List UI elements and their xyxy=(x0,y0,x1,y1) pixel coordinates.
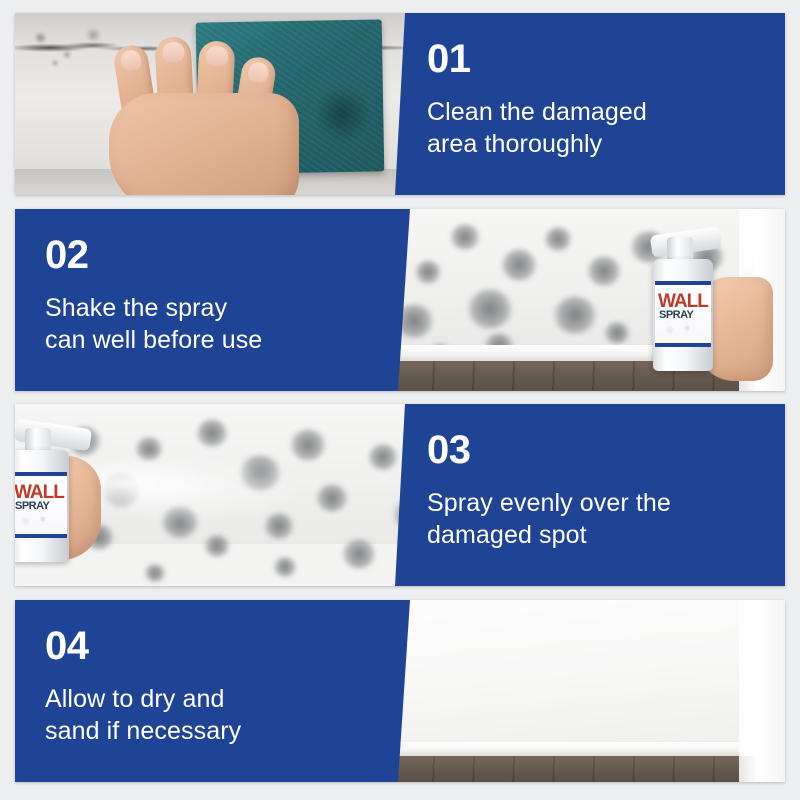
step-card-04: 04 Allow to dry and sand if necessary xyxy=(15,600,785,782)
step-number: 03 xyxy=(427,430,767,470)
step-card-03: WALL SPRAY 03 Spray evenly over the dama… xyxy=(15,404,785,586)
label-graphic xyxy=(15,508,63,530)
step-02-photo: WALL SPRAY xyxy=(355,209,785,391)
step-04-photo xyxy=(355,600,785,782)
step-03-photo: WALL SPRAY xyxy=(15,404,445,586)
label-graphic xyxy=(659,317,707,339)
step-01-text-pane: 01 Clean the damaged area thoroughly xyxy=(395,13,785,195)
step-01-photo xyxy=(15,13,445,195)
step-03-text-pane: 03 Spray evenly over the damaged spot xyxy=(395,404,785,586)
spray-bottle-icon: WALL SPRAY xyxy=(15,422,91,572)
fingernail xyxy=(247,61,270,84)
step-card-02: WALL SPRAY 02 Shake the spray can well b… xyxy=(15,209,785,391)
fingernail xyxy=(162,41,185,62)
step-description: Clean the damaged area thoroughly xyxy=(427,97,767,160)
baseboard xyxy=(355,742,785,756)
hand-illustration xyxy=(101,35,311,195)
step-description: Allow to dry and sand if necessary xyxy=(45,684,370,747)
spray-bottle-icon: WALL SPRAY xyxy=(653,231,733,381)
step-number: 02 xyxy=(45,235,370,275)
bottle-body: WALL SPRAY xyxy=(653,259,713,371)
clean-wall-background xyxy=(355,600,785,782)
bottle-body: WALL SPRAY xyxy=(15,450,69,562)
step-number: 04 xyxy=(45,626,370,666)
step-card-01: 01 Clean the damaged area thoroughly xyxy=(15,13,785,195)
step-02-text-pane: 02 Shake the spray can well before use xyxy=(15,209,410,391)
fingernail xyxy=(120,49,143,72)
palm xyxy=(109,93,299,195)
spray-mist-icon xyxy=(87,432,297,536)
step-04-text-pane: 04 Allow to dry and sand if necessary xyxy=(15,600,410,782)
step-description: Spray evenly over the damaged spot xyxy=(427,488,767,551)
wall-surface xyxy=(355,600,785,746)
step-number: 01 xyxy=(427,39,767,79)
corner-wall xyxy=(739,600,785,782)
wood-floor xyxy=(355,756,785,782)
fingernail xyxy=(206,45,229,66)
step-description: Shake the spray can well before use xyxy=(45,293,370,356)
instruction-steps-infographic: 01 Clean the damaged area thoroughly xyxy=(0,0,800,800)
bottle-label: WALL SPRAY xyxy=(655,281,711,347)
bottle-label: WALL SPRAY xyxy=(15,472,67,538)
